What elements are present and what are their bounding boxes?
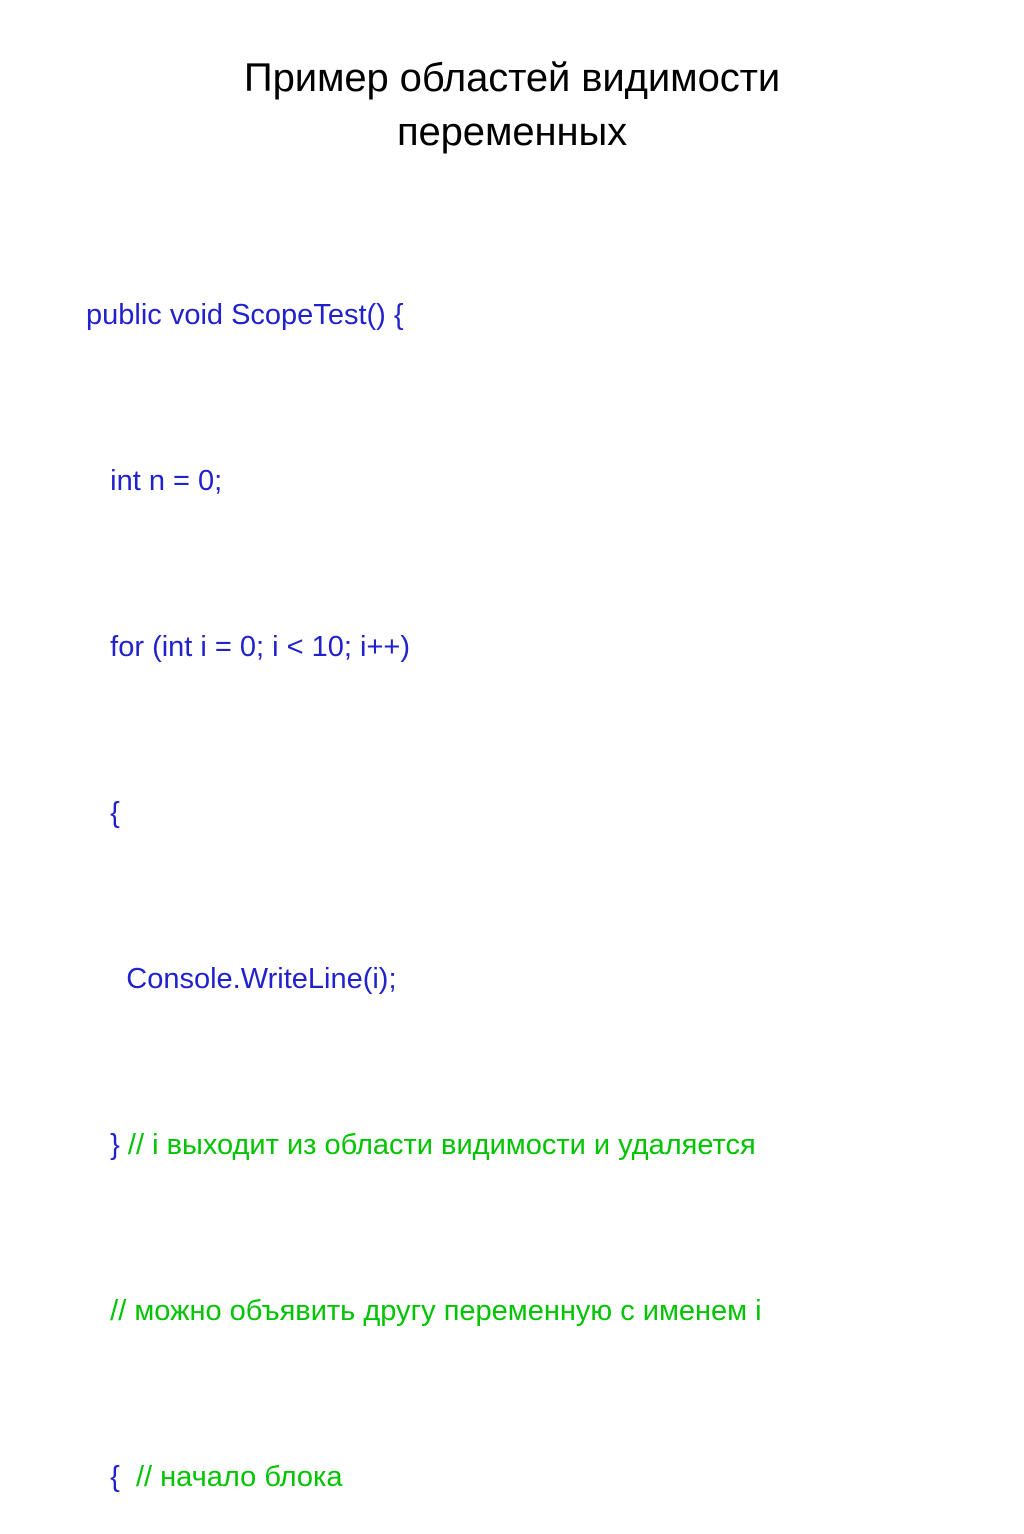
code-listing: public void ScopeTest() { int n = 0; for… <box>86 170 1016 1534</box>
code-line: { <box>86 793 1016 835</box>
code-line-comment: // начало блока <box>136 1461 342 1493</box>
page-title: Пример областей видимости переменных <box>64 51 960 159</box>
code-line-code: public void ScopeTest() { <box>86 299 404 331</box>
code-line: } // i выходит из области видимости и уд… <box>86 1125 1016 1167</box>
code-line-comment: // i выходит из области видимости и удал… <box>128 1129 756 1161</box>
code-line-code: for (int i = 0; i < 10; i++) <box>86 631 410 663</box>
code-line-code: } <box>86 1129 128 1161</box>
code-line-code: { <box>86 1461 136 1493</box>
code-line: public void ScopeTest() { <box>86 295 1016 337</box>
code-line-code <box>86 1295 110 1327</box>
code-line-code: { <box>86 797 120 829</box>
code-line: int n = 0; <box>86 461 1016 503</box>
slide-canvas: Пример областей видимости переменных pub… <box>0 0 1024 767</box>
code-line-code: int n = 0; <box>86 465 222 497</box>
code-line: // можно объявить другу переменную с име… <box>86 1291 1016 1333</box>
code-line: for (int i = 0; i < 10; i++) <box>86 627 1016 669</box>
code-line-code: Console.WriteLine(i); <box>86 963 397 995</box>
code-line: Console.WriteLine(i); <box>86 959 1016 1001</box>
code-line-comment: // можно объявить другу переменную с име… <box>110 1295 761 1327</box>
code-line: { // начало блока <box>86 1457 1016 1499</box>
